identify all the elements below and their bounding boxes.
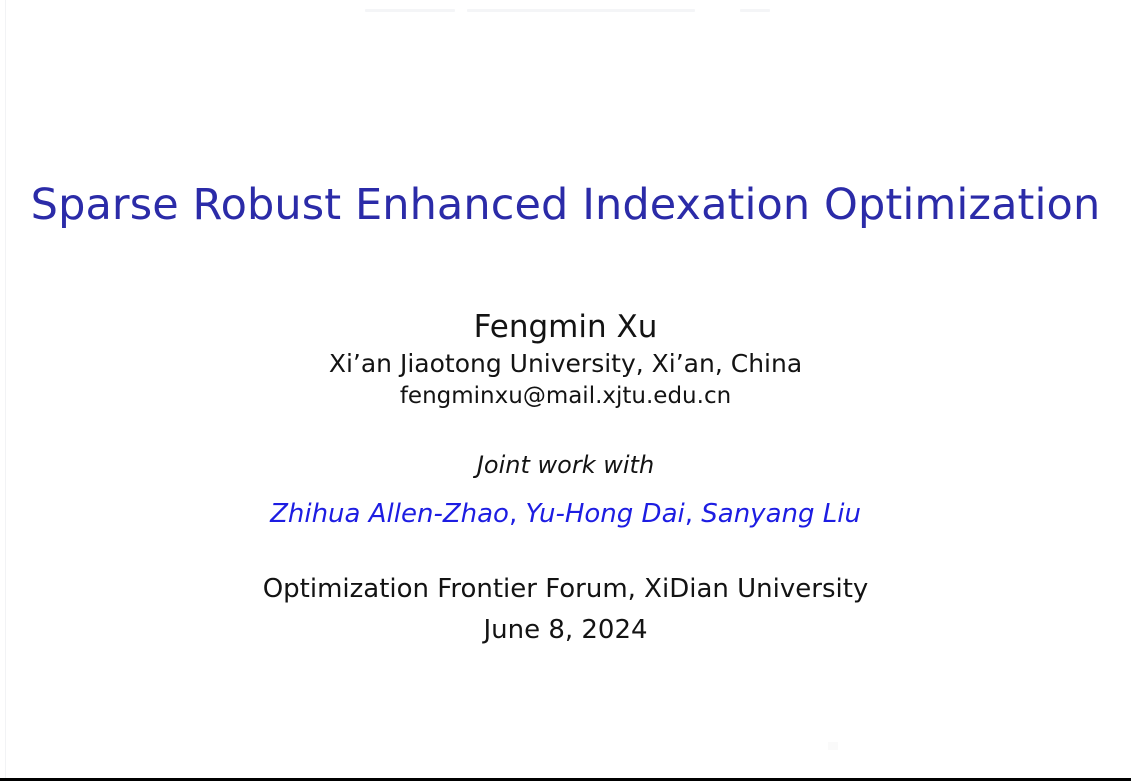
date-text: June 8, 2024: [0, 614, 1131, 647]
collaborator-name: Sanyang Liu: [701, 499, 861, 529]
author-name: Fengmin Xu: [0, 308, 1131, 347]
collaborator-list: Zhihua Allen-Zhao, Yu-Hong Dai, Sanyang …: [0, 498, 1131, 531]
presentation-slide: Sparse Robust Enhanced Indexation Optimi…: [0, 0, 1131, 781]
slide-content: Sparse Robust Enhanced Indexation Optimi…: [0, 0, 1131, 781]
author-affiliation: Xi’an Jiaotong University, Xi’an, China: [0, 348, 1131, 380]
collaborator-name: Yu-Hong Dai: [525, 499, 684, 529]
collaborator-separator: ,: [509, 499, 526, 529]
collaborator-name: Zhihua Allen-Zhao: [270, 499, 509, 529]
venue-text: Optimization Frontier Forum, XiDian Univ…: [0, 573, 1131, 606]
author-email: fengminxu@mail.xjtu.edu.cn: [0, 381, 1131, 412]
author-block: Fengmin Xu Xi’an Jiaotong University, Xi…: [0, 308, 1131, 412]
joint-work-label: Joint work with: [0, 450, 1131, 480]
faint-artifact: [828, 742, 838, 750]
collaborator-separator: ,: [685, 499, 702, 529]
slide-title: Sparse Robust Enhanced Indexation Optimi…: [0, 178, 1131, 232]
